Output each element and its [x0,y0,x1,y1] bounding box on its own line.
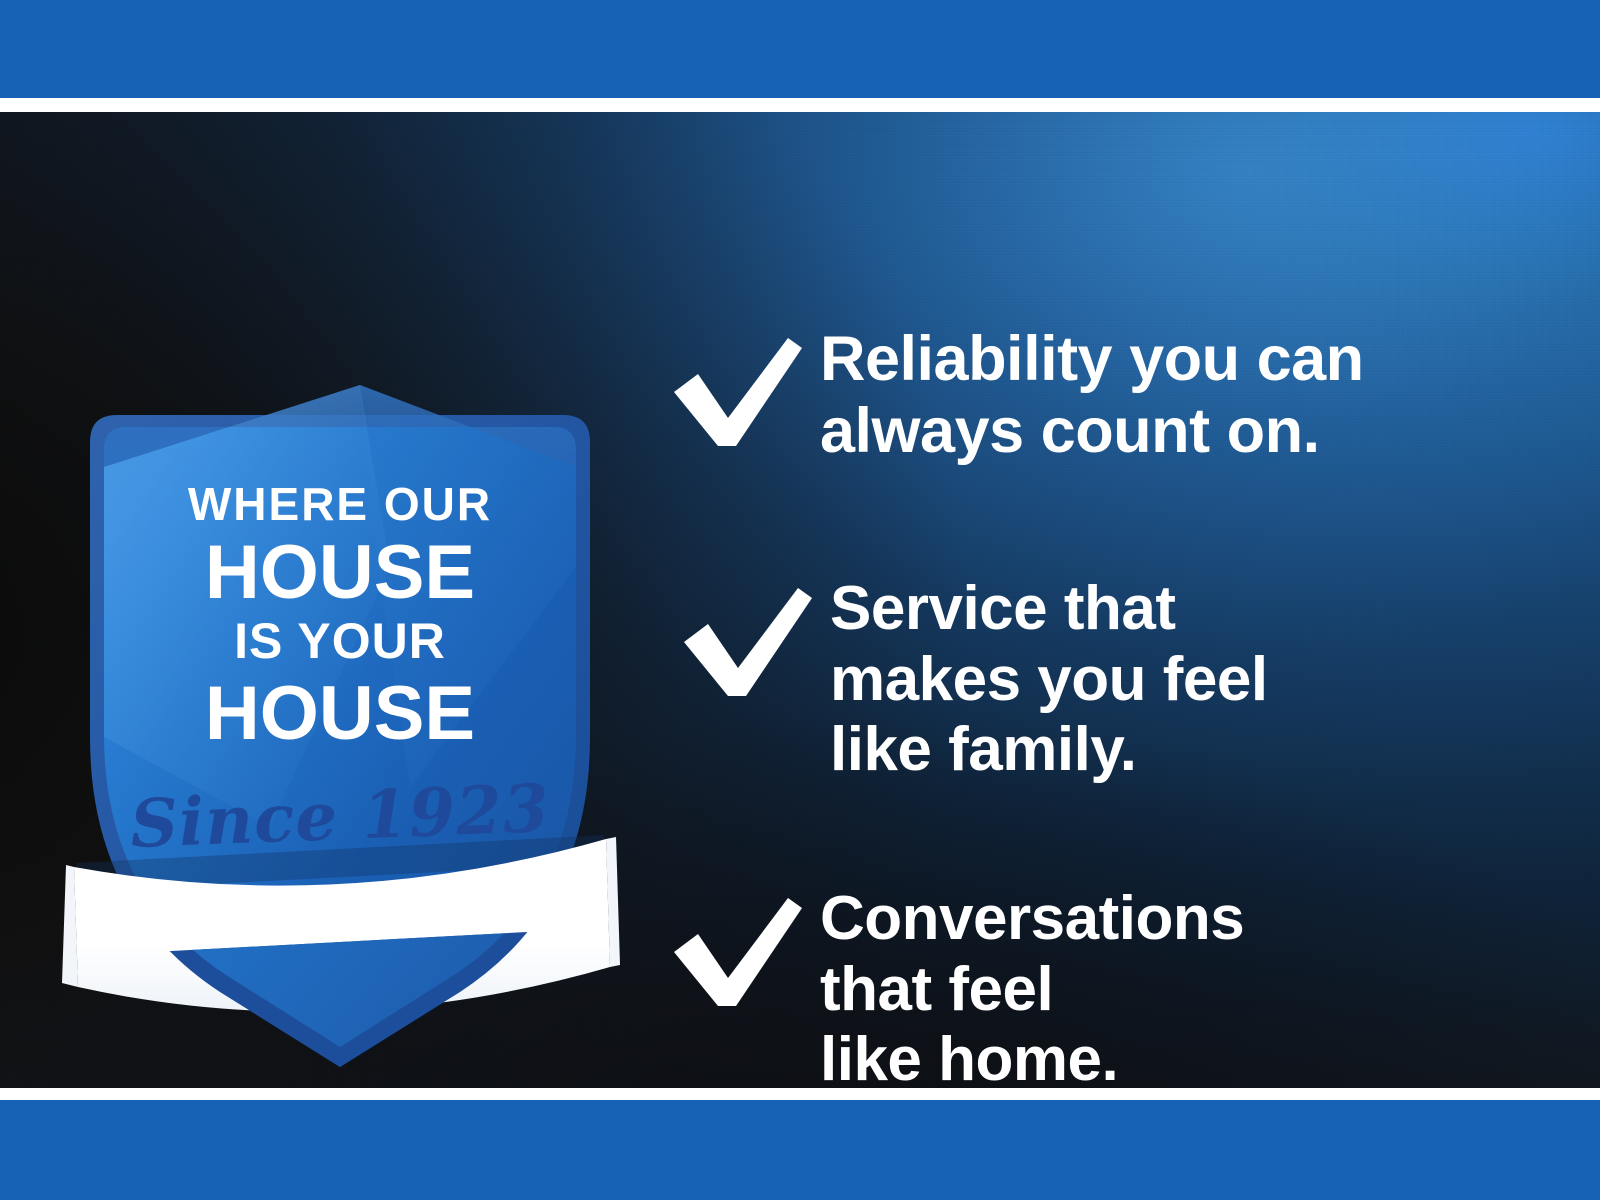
list-item-text: Conversations that feel like home. [820,884,1244,1088]
shield-lower-layer [60,267,620,1077]
promo-graphic: WHERE OUR HOUSE IS YOUR HOUSE Since 1923… [0,0,1600,1200]
list-item: Service that makes you feel like family. [680,574,1268,786]
shield-badge: WHERE OUR HOUSE IS YOUR HOUSE Since 1923 [60,267,620,1077]
check-icon [670,884,820,1012]
check-icon [680,574,830,702]
list-item: Conversations that feel like home. [670,884,1244,1088]
bottom-brand-bar [0,1100,1600,1200]
shield-face-lower [104,450,576,1047]
check-icon [670,324,820,452]
list-item-text: Reliability you can always count on. [820,324,1364,468]
list-item: Reliability you can always count on. [670,324,1364,468]
benefits-list: Reliability you can always count on. Ser… [670,224,1570,1088]
top-brand-bar [0,0,1600,98]
main-canvas: WHERE OUR HOUSE IS YOUR HOUSE Since 1923… [0,112,1600,1088]
list-item-text: Service that makes you feel like family. [830,574,1268,786]
